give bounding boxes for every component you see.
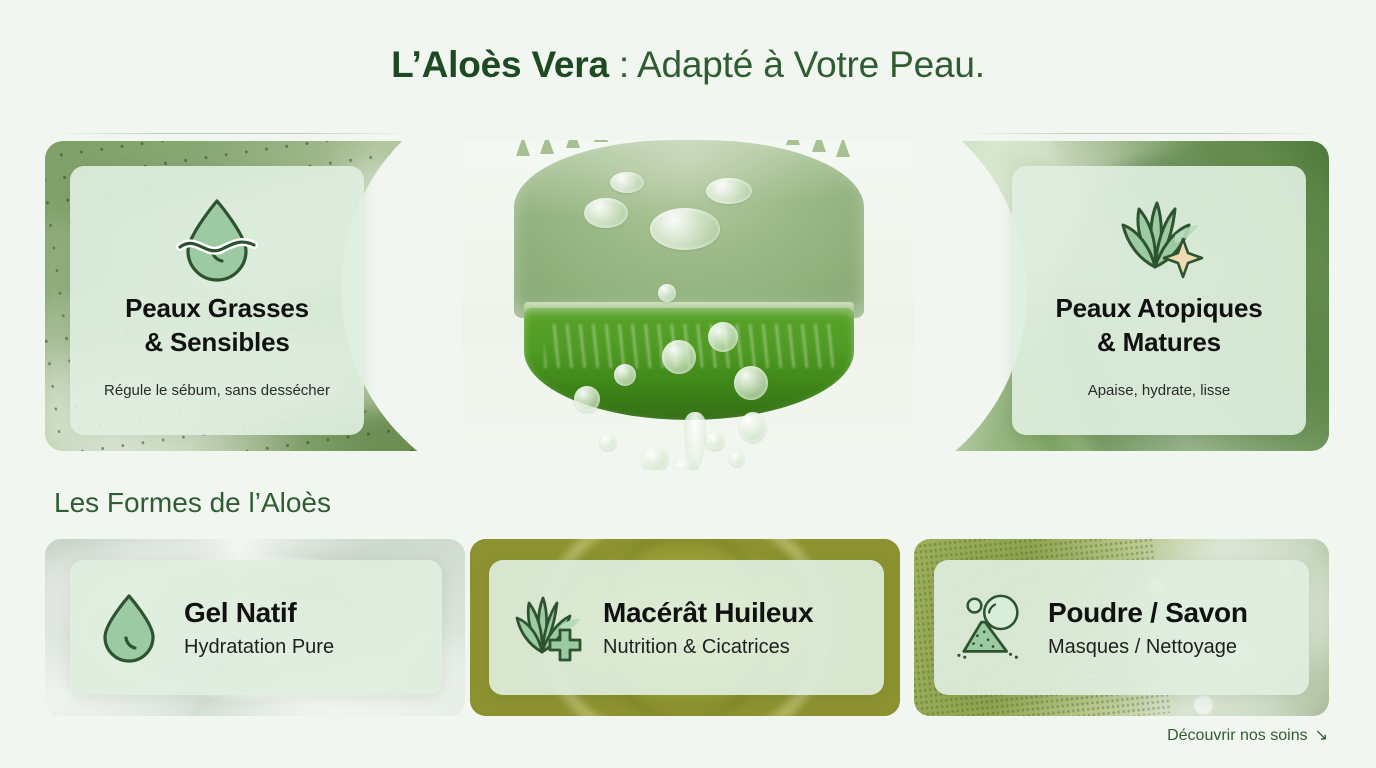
form-card-subtitle: Nutrition & Cicatrices — [603, 635, 813, 659]
forms-section-heading: Les Formes de l’Aloès — [54, 487, 331, 519]
droplet-icon — [92, 591, 166, 665]
water-droplet — [650, 208, 720, 250]
page-title: L’Aloès Vera : Adapté à Votre Peau. — [0, 44, 1376, 87]
falling-droplet — [740, 412, 766, 442]
skin-type-card-title: Peaux Grasses & Sensibles — [70, 292, 364, 360]
divider-right — [965, 133, 1324, 134]
droplet-balance-icon — [70, 190, 364, 288]
skin-type-card-title: Peaux Atopiques & Matures — [1012, 292, 1306, 360]
gel-bubble — [574, 386, 600, 412]
page-title-brand: L’Aloès Vera — [391, 44, 609, 85]
gel-bubble — [662, 340, 696, 374]
gel-bubble — [708, 322, 738, 352]
falling-droplet — [706, 432, 724, 450]
aloe-sparkle-icon — [1012, 190, 1306, 288]
form-card-text: Poudre / Savon Masques / Nettoyage — [1048, 596, 1248, 660]
skin-type-card-subtitle: Régule le sébum, sans dessécher — [70, 382, 364, 399]
falling-droplet — [600, 434, 616, 450]
gel-bubble — [614, 364, 636, 386]
water-droplet — [610, 172, 644, 193]
divider-left — [52, 133, 410, 134]
powder-bubbles-icon — [956, 592, 1030, 664]
form-card-powder[interactable]: Poudre / Savon Masques / Nettoyage — [934, 560, 1309, 695]
arrow-down-right-icon: ↘ — [1315, 728, 1328, 744]
form-card-title: Gel Natif — [184, 596, 334, 630]
form-card-gel[interactable]: Gel Natif Hydratation Pure — [70, 560, 442, 695]
skin-type-card-subtitle: Apaise, hydrate, lisse — [1012, 382, 1306, 399]
falling-droplet — [730, 452, 744, 466]
gel-bubble — [734, 366, 768, 400]
hero-section: Peaux Grasses & Sensibles Régule le sébu… — [0, 141, 1376, 451]
form-card-title: Macérât Huileux — [603, 596, 813, 630]
falling-droplet — [642, 446, 668, 470]
form-card-subtitle: Masques / Nettoyage — [1048, 635, 1248, 659]
form-card-text: Macérât Huileux Nutrition & Cicatrices — [603, 596, 813, 660]
form-card-text: Gel Natif Hydratation Pure — [184, 596, 334, 660]
title-line-1: Peaux Grasses — [70, 292, 364, 326]
skin-type-card-oily[interactable]: Peaux Grasses & Sensibles Régule le sébu… — [70, 166, 364, 435]
discover-care-link[interactable]: Découvrir nos soins ↘ — [1167, 727, 1328, 745]
page-title-rest: : Adapté à Votre Peau. — [609, 44, 985, 85]
skin-type-card-atopic[interactable]: Peaux Atopiques & Matures Apaise, hydrat… — [1012, 166, 1306, 435]
title-line-2: & Matures — [1012, 326, 1306, 360]
aloe-cross-icon — [511, 592, 585, 664]
discover-care-label: Découvrir nos soins — [1167, 727, 1308, 745]
water-droplet — [584, 198, 628, 228]
water-droplet — [706, 178, 752, 204]
title-line-2: & Sensibles — [70, 326, 364, 360]
hero-photo-center — [462, 140, 914, 470]
form-card-title: Poudre / Savon — [1048, 596, 1248, 630]
form-card-oil[interactable]: Macérât Huileux Nutrition & Cicatrices — [489, 560, 884, 695]
form-card-subtitle: Hydratation Pure — [184, 635, 334, 659]
water-droplet — [658, 284, 676, 302]
title-line-1: Peaux Atopiques — [1012, 292, 1306, 326]
